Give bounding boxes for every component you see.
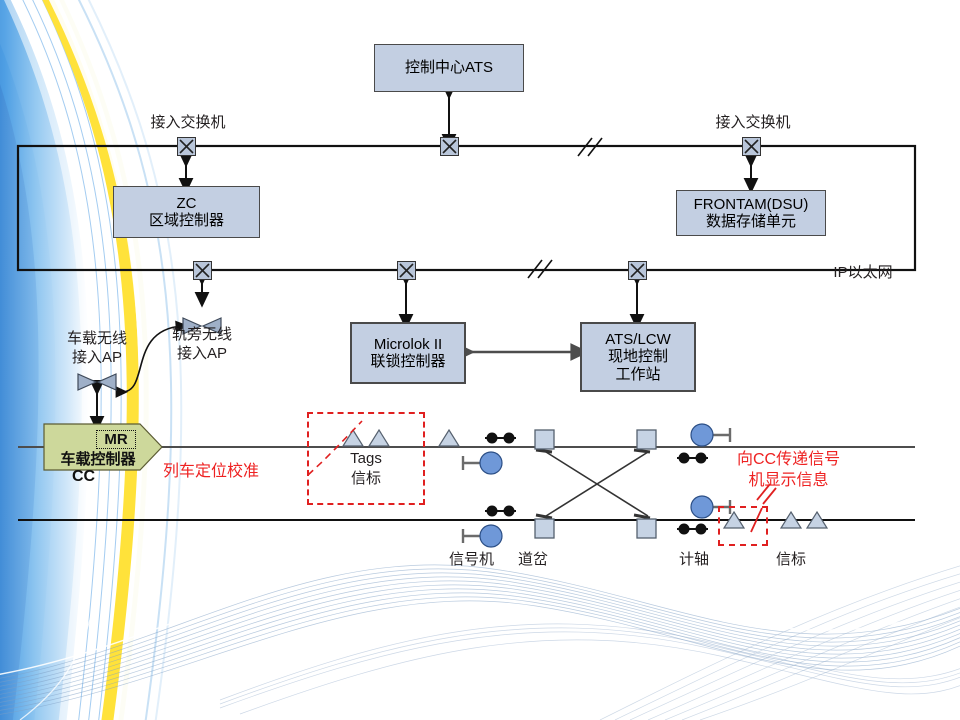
node-label-frontam-cn: 数据存储单元 [706,213,796,230]
node-label-microlok-en: Microlok II [374,336,442,353]
node-control-center-ats[interactable]: 控制中心ATS [374,44,524,92]
legend-beacon: 信标 [776,548,806,569]
node-label-ats: 控制中心ATS [405,59,493,76]
x-icon [441,138,458,155]
slide-canvas: 控制中心ATS ZC 区域控制器 FRONTAM(DSU) 数据存储单元 Mic… [0,0,960,720]
label-ip-ethernet: IP以太网 [808,264,918,283]
x-icon [743,138,760,155]
node-frontam-dsu[interactable]: FRONTAM(DSU) 数据存储单元 [676,190,826,236]
node-ats-lcw[interactable]: ATS/LCW 现地控制 工作站 [580,322,696,392]
node-label-atslcw-en: ATS/LCW [605,331,671,348]
annotation-signal-to-cc-line2: 机显示信息 [737,471,840,492]
label-access-switch-left: 接入交换机 [133,114,243,133]
label-wayside-ap: 轨旁无线 接入AP [155,326,249,364]
x-icon [398,262,415,279]
onboard-ap-icon [78,374,116,390]
node-label-zc-cn: 区域控制器 [149,212,224,229]
annotation-signal-to-cc-line1: 向CC传递信号 [737,450,840,471]
x-icon [178,138,195,155]
node-microlok-ii[interactable]: Microlok II 联锁控制器 [350,322,466,384]
switch-icon-top-left[interactable] [177,137,196,156]
switch-icon-bottom-left[interactable] [193,261,212,280]
label-onboard-ap: 车载无线 接入AP [50,330,144,368]
tags-callout-en: Tags [324,450,408,469]
switch-icon-top-right[interactable] [742,137,761,156]
train-cn-label: 车载控制器 [44,448,152,469]
x-icon [194,262,211,279]
axle-counter-callout-box [718,506,768,546]
switch-icon-top-center[interactable] [440,137,459,156]
node-label-zc-en: ZC [177,195,197,212]
legend-signal: 信号机 [449,548,494,569]
train-mr-label: MR [96,430,136,449]
train-cc[interactable]: MR 车载控制器 [44,424,162,470]
train-cc-label: CC [72,468,95,486]
tags-callout-cn: 信标 [324,470,408,489]
annotation-signal-to-cc: 向CC传递信号 机显示信息 [737,450,840,492]
legend-axle-counter: 计轴 [679,548,709,569]
switch-icon-bottom-right[interactable] [628,261,647,280]
node-label-atslcw-cn: 现地控制 工作站 [608,348,668,383]
node-label-microlok-cn: 联锁控制器 [370,353,445,370]
legend-turnout: 道岔 [518,548,548,569]
annotation-train-positioning: 列车定位校准 [163,462,259,483]
x-icon [629,262,646,279]
switch-icon-bottom-center[interactable] [397,261,416,280]
diagram-lines [0,0,960,720]
label-access-switch-right: 接入交换机 [698,114,808,133]
node-label-frontam-en: FRONTAM(DSU) [694,196,809,213]
node-zc[interactable]: ZC 区域控制器 [113,186,260,238]
